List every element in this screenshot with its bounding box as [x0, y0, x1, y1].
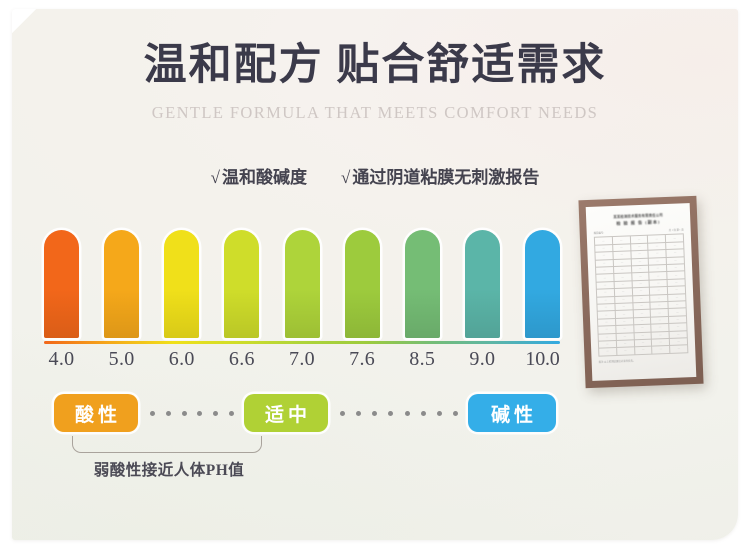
ph-tick: 4.0 [44, 348, 79, 371]
ph-tick: 7.0 [285, 348, 320, 371]
certificate-table: ————————————————————————————————————————… [594, 234, 689, 357]
ph-tick-labels: 4.0 5.0 6.0 6.6 7.0 7.6 8.5 9.0 10.0 [44, 348, 560, 371]
feature-list: √ 温和酸碱度 √ 通过阴道粘膜无刺激报告 [0, 163, 750, 188]
ph-legend: 酸性 适中 碱性 [44, 394, 560, 434]
certificate-meta-left: 报告编号: [594, 231, 604, 235]
legend-dot [356, 411, 361, 416]
legend-dot [453, 411, 458, 416]
legend-dot [388, 411, 393, 416]
legend-dot [372, 411, 377, 416]
certificate-photo: 某某检测技术服务有限责任公司 检 验 报 告 (副本) 报告编号: 共 1 页 … [578, 196, 703, 388]
promo-banner: 温和配方 贴合舒适需求 GENTLE FORMULA THAT MEETS CO… [0, 0, 750, 548]
ph-tick: 9.0 [465, 348, 500, 371]
legend-dots-left [150, 411, 234, 416]
legend-dot [150, 411, 155, 416]
ph-bar [345, 230, 380, 338]
ph-chart: 4.0 5.0 6.0 6.6 7.0 7.6 8.5 9.0 10.0 [44, 228, 560, 378]
ph-tick: 7.6 [345, 348, 380, 371]
legend-dot [213, 411, 218, 416]
legend-pill-acidic: 酸性 [54, 394, 138, 432]
certificate-table-cell: — [634, 346, 652, 354]
ph-tick: 5.0 [104, 348, 139, 371]
ph-axis-line [44, 341, 560, 344]
ph-bar [224, 230, 259, 338]
legend-dots-right [340, 411, 458, 416]
range-bracket [72, 436, 262, 453]
bracket-caption: 弱酸性接近人体PH值 [44, 458, 294, 480]
ph-bar-group [44, 228, 560, 338]
legend-pill-alkaline: 碱性 [468, 394, 556, 432]
certificate-table-cell: — [616, 347, 634, 355]
page-title: 温和配方 贴合舒适需求 [0, 42, 750, 90]
ph-tick: 8.5 [405, 348, 440, 371]
certificate-table-cell: — [652, 346, 670, 354]
certificate-paper: 某某检测技术服务有限责任公司 检 验 报 告 (副本) 报告编号: 共 1 页 … [586, 203, 697, 381]
ph-bar [405, 230, 440, 338]
ph-bar [104, 230, 139, 338]
certificate-meta-right: 共 1 页 第 1 页 [669, 228, 684, 233]
ph-bar [465, 230, 500, 338]
feature-label: 温和酸碱度 [222, 163, 307, 188]
legend-dot [340, 411, 345, 416]
feature-item-report: √ 通过阴道粘膜无刺激报告 [341, 163, 539, 188]
legend-dot [437, 411, 442, 416]
ph-tick: 6.0 [164, 348, 199, 371]
ph-bar [164, 230, 199, 338]
ph-bar [44, 230, 79, 338]
check-icon: √ [341, 168, 350, 188]
certificate-footer: 备注:以上检测结果仅对来样负责。 [599, 356, 689, 363]
corner-notch [12, 9, 38, 35]
legend-dot [182, 411, 187, 416]
legend-dot [197, 411, 202, 416]
ph-tick: 6.6 [224, 348, 259, 371]
ph-bar [525, 230, 560, 338]
heading-block: 温和配方 贴合舒适需求 GENTLE FORMULA THAT MEETS CO… [0, 42, 750, 123]
legend-dot [421, 411, 426, 416]
page-subtitle: GENTLE FORMULA THAT MEETS COMFORT NEEDS [0, 103, 750, 123]
legend-dot [166, 411, 171, 416]
feature-item-ph: √ 温和酸碱度 [211, 163, 307, 188]
certificate-frame: 某某检测技术服务有限责任公司 检 验 报 告 (副本) 报告编号: 共 1 页 … [578, 196, 703, 388]
legend-dot [229, 411, 234, 416]
certificate-table-cell: — [670, 345, 688, 353]
legend-pill-neutral: 适中 [244, 394, 328, 432]
certificate-table-cell: — [599, 348, 617, 356]
legend-dot [405, 411, 410, 416]
ph-tick: 10.0 [525, 348, 560, 371]
ph-bar [285, 230, 320, 338]
feature-label: 通过阴道粘膜无刺激报告 [352, 163, 539, 188]
check-icon: √ [211, 168, 220, 188]
